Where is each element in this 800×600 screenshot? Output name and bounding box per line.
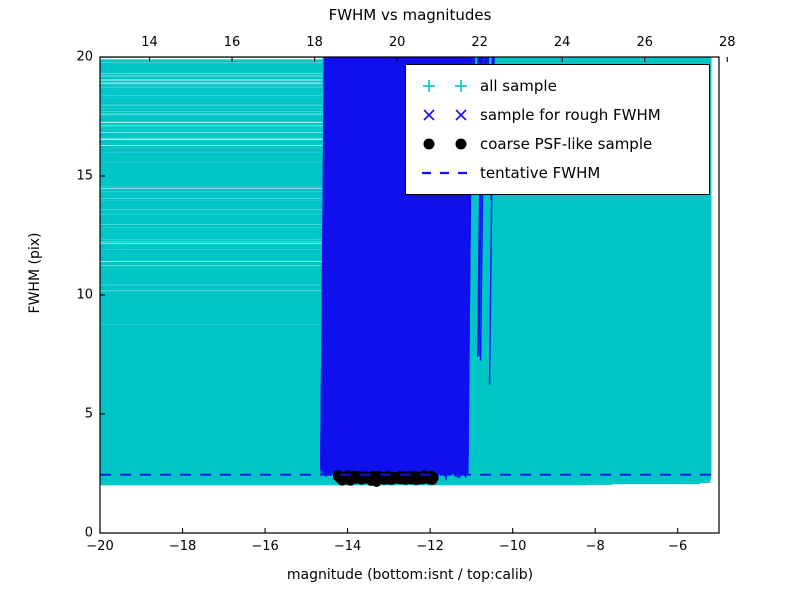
plus-icon [414,76,476,96]
x-tick-top: 16 [224,35,241,50]
x-tick-top: 18 [306,35,323,50]
y-tick: 15 [76,169,93,184]
legend-item-coarse-psf: coarse PSF-like sample [414,129,701,158]
legend-item-tentative-fwhm: tentative FWHM [414,158,701,187]
x-tick-top: 20 [389,35,406,50]
x-tick-top: 22 [471,35,488,50]
x-tick-bottom: −8 [586,539,605,554]
x-tick-bottom: −6 [668,539,687,554]
dot-icon [414,134,476,154]
x-tick-bottom: −20 [86,539,113,554]
legend-label-tentative-fwhm: tentative FWHM [476,164,600,182]
legend-label-coarse-psf: coarse PSF-like sample [476,135,652,153]
legend-item-all-sample: all sample [414,71,701,100]
x-tick-bottom: −10 [499,539,526,554]
x-tick-bottom: −18 [169,539,196,554]
figure-canvas: FWHM vs magnitudes magnitude (bottom:isn… [0,0,800,600]
legend-label-all-sample: all sample [476,77,557,95]
x-tick-top: 26 [636,35,653,50]
x-tick-top: 14 [141,35,158,50]
legend-label-rough-fwhm: sample for rough FWHM [476,106,661,124]
dashed-line-icon [414,163,476,183]
x-tick-bottom: −12 [416,539,443,554]
cross-icon [414,105,476,125]
y-tick: 5 [85,407,93,422]
x-tick-bottom: −14 [334,539,361,554]
legend: all sample sample for rough FWHM c [405,64,710,195]
y-tick: 10 [76,288,93,303]
y-tick: 20 [76,50,93,65]
legend-item-rough-fwhm: sample for rough FWHM [414,100,701,129]
y-tick: 0 [85,526,93,541]
x-tick-top: 28 [719,35,736,50]
x-tick-bottom: −16 [251,539,278,554]
x-tick-top: 24 [554,35,571,50]
